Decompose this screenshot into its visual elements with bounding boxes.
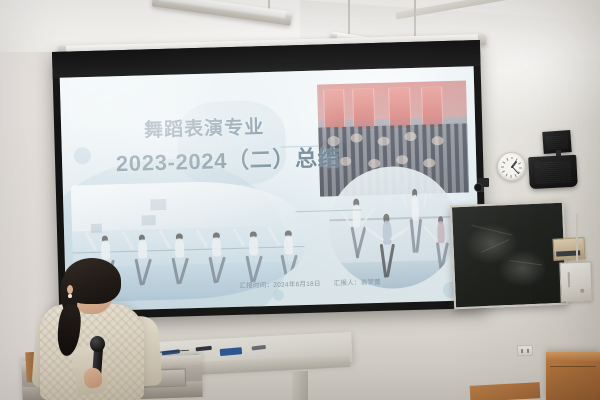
dancer-leg: [415, 219, 421, 253]
panel-slot: [568, 272, 571, 287]
dancer-leg: [216, 256, 227, 283]
presenter-earring: [68, 294, 72, 298]
pointer-pen[interactable]: [252, 345, 266, 351]
dancer-body: [284, 235, 293, 255]
wall-speaker-lower: [528, 155, 578, 189]
crowd-head: [423, 158, 435, 167]
dancer-body: [411, 195, 419, 220]
wooden-desk-right: [546, 352, 600, 400]
microphone-head: [90, 336, 105, 352]
row-dancer: [202, 237, 231, 285]
clock-face: [500, 155, 523, 178]
crowd-head: [378, 136, 390, 145]
presenter-ear: [67, 285, 73, 294]
chalkboard: [450, 201, 568, 310]
wall-junction-box-wood: [552, 237, 585, 261]
footer-time-value: 2024年6月18日: [273, 281, 321, 289]
dancer-leg: [386, 244, 395, 278]
footer-presenter-value: 翁梦蕾: [361, 279, 381, 287]
dancer-arm: [232, 227, 244, 246]
desk-front-panel: [550, 366, 596, 400]
slide-title-line1: 舞蹈表演专业: [144, 112, 265, 142]
desk-top-surface: [546, 352, 600, 361]
dancer-arm: [399, 181, 407, 208]
dancer-body: [437, 221, 445, 243]
studio-dancer: [372, 220, 402, 279]
dancer-leg: [178, 257, 189, 284]
dancer-arm: [267, 226, 279, 245]
wall-control-panel[interactable]: [559, 261, 592, 302]
crowd-head: [431, 136, 443, 145]
dancer-body: [249, 236, 258, 256]
remote-control[interactable]: [220, 347, 243, 356]
light-endcap-left: [152, 0, 160, 7]
crowd-head: [340, 157, 352, 166]
row-dancer: [274, 235, 303, 283]
dancer-arm: [84, 231, 96, 250]
chalk-smudge: [498, 249, 548, 287]
photo-window-3: [388, 87, 411, 130]
clock-center-pin: [511, 166, 513, 168]
footer-presenter-label: 汇报人：: [334, 280, 361, 288]
dancer-arm: [121, 230, 133, 249]
presenter: [30, 258, 160, 400]
slide-title-line2: 2023-2024（二）总结: [115, 140, 340, 178]
row-dancer: [165, 238, 194, 286]
teacher-desk-leg: [292, 371, 308, 400]
dancer-body: [212, 237, 221, 257]
crowd-head: [396, 155, 408, 164]
wall-panel: [150, 199, 167, 210]
camera-mount-arm: [481, 187, 484, 192]
dancer-leg: [355, 227, 366, 259]
studio-dancer: [429, 221, 454, 273]
panel-indicator: [580, 289, 584, 293]
light-rod-right-a: [348, 0, 350, 36]
slide-circle-small-left: [74, 147, 91, 164]
row-dancer: [239, 236, 268, 284]
dancer-body: [138, 239, 147, 259]
dancer-arm: [195, 228, 207, 247]
photo-window-1: [323, 88, 346, 131]
studio-ceiling: [71, 179, 304, 232]
classroom-scene: 舞蹈表演专业 2023-2024（二）总结 汇报时间：2024年6月18日汇报人…: [0, 0, 600, 400]
wall-panel: [91, 224, 103, 233]
marker-dark[interactable]: [196, 346, 212, 352]
crowd-head: [405, 132, 417, 141]
photo-window-4: [421, 86, 444, 129]
dancer-leg: [287, 254, 298, 281]
dancer-body: [382, 220, 392, 245]
dancer-arm: [158, 229, 170, 248]
wall-panel: [141, 216, 155, 226]
studio-dancer: [344, 204, 371, 261]
photo-window-2: [353, 88, 376, 131]
dancer-arm: [423, 181, 429, 207]
wall-cable: [576, 214, 578, 266]
dancer-leg: [440, 242, 449, 271]
wooden-desk-right-far: [470, 382, 541, 400]
footer-time-label: 汇报时间：: [239, 282, 273, 290]
dancer-leg: [253, 255, 264, 282]
wall-clock: [497, 152, 526, 181]
wall-camera-right: [474, 178, 491, 192]
dancer-body: [175, 238, 184, 258]
crowd-head: [351, 133, 363, 142]
